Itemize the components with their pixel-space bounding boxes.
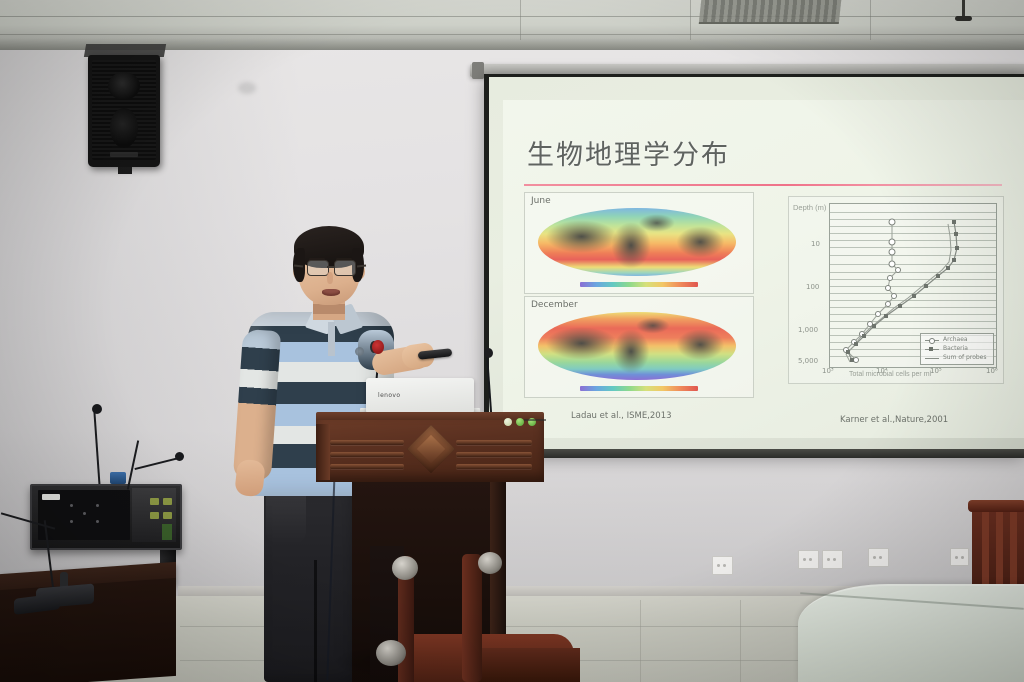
chair-foreground-rail [462, 554, 482, 682]
floor-tile-seam [740, 600, 741, 682]
map-label-june: June [531, 196, 551, 206]
lectern-slat [330, 464, 404, 469]
ceiling-tile-seam [520, 0, 521, 40]
lectern-slat [330, 440, 404, 445]
chart-y-axis-label: Depth (m) [793, 203, 826, 212]
chart-x-axis-label: Total microbial cells per ml [849, 371, 931, 378]
presenter-nose [327, 272, 333, 284]
speaker-mount [118, 167, 132, 174]
presenter-trousers-seam [314, 560, 317, 682]
av-rack-jack[interactable] [163, 512, 172, 519]
av-rack-screw [70, 520, 73, 523]
speaker-tweeter [108, 72, 140, 100]
presenter-neck-shadow [313, 304, 345, 314]
presenter-shirt-placket [328, 322, 335, 356]
lectern-slat [456, 464, 532, 469]
gooseneck-microphone-head [175, 452, 184, 461]
legend-marker-bacteria [929, 347, 933, 351]
eyeglasses-lens [307, 260, 329, 276]
lectern-slat [456, 440, 532, 445]
ceiling-tile-seam [870, 0, 871, 40]
colorbar-december [580, 386, 698, 391]
legend-label-sum-of-probes: Sum of probes [943, 354, 987, 361]
chart-x-tick: 10³ [822, 367, 834, 375]
laptop-brand-label: lenovo [378, 392, 400, 399]
chair-foreground-seat-shadow [470, 648, 580, 682]
chart-y-tick: 5,000 [798, 357, 818, 365]
chair-right-crest-rail [968, 500, 1024, 512]
eyeglasses-bridge [327, 266, 334, 268]
speaker-woofer [110, 108, 138, 148]
legend-label-bacteria: Bacteria [943, 345, 968, 352]
wall-outlet [822, 550, 843, 569]
legend-label-archaea: Archaea [943, 336, 968, 343]
wall-outlet [950, 548, 969, 566]
lectern-indicator-light-1[interactable] [504, 418, 512, 426]
av-rack-label [42, 494, 60, 500]
speaker-brand-plate [110, 152, 138, 157]
lectern-control-strip [524, 419, 546, 421]
ceiling-hook [955, 16, 972, 21]
map-label-december: December [531, 300, 578, 310]
white-conference-table [798, 584, 1024, 682]
chart-x-tick: 10⁵ [930, 367, 942, 375]
wall-outlet [798, 550, 819, 569]
eyeglasses-lens [334, 260, 356, 276]
lectern-slat [330, 452, 404, 457]
citation-right: Karner et al.,Nature,2001 [840, 415, 948, 425]
presenter-shirt-logo [355, 347, 364, 356]
slide-title-underline [524, 184, 1002, 186]
citation-left: Ladau et al., ISME,2013 [571, 411, 672, 421]
floor-tile-seam [640, 600, 641, 682]
chair-foreground-knob [376, 640, 406, 666]
wall-mark [238, 82, 256, 94]
gooseneck-microphone-head [92, 404, 102, 414]
chair-foreground-knob [392, 556, 418, 580]
chart-y-tick: 1,000 [798, 326, 818, 334]
legend-marker-archaea [929, 338, 935, 344]
lectern-side-panel [316, 424, 330, 480]
globe-december [538, 312, 736, 380]
chair-foreground-knob [478, 552, 502, 574]
chart-y-tick: 10 [811, 240, 820, 248]
podium-microphone-head [484, 348, 493, 358]
colorbar-june [580, 282, 698, 287]
projection-screen-roller-cap [472, 62, 484, 79]
chart-y-tick: 100 [806, 283, 819, 291]
av-rack-indicator [162, 524, 172, 540]
av-rack-screw [70, 504, 73, 507]
lecture-hall-photo: 生物地理学分布 June December Depth (m) [0, 0, 1024, 682]
projection-screen-weight-bar [484, 449, 1024, 458]
av-rack-screw [96, 520, 99, 523]
wall-outlet [868, 548, 889, 567]
chart-x-tick: 10⁶ [986, 367, 998, 375]
podium-microphone-windscreen [372, 340, 384, 354]
lectern-slat [456, 452, 532, 457]
av-rack-jack[interactable] [150, 498, 159, 505]
av-rack-screw [96, 504, 99, 507]
av-rack-jack[interactable] [163, 498, 172, 505]
lectern-indicator-light-2[interactable] [516, 418, 524, 426]
globe-june [538, 208, 736, 276]
av-rack-jack[interactable] [150, 512, 159, 519]
presenter-mouth [322, 289, 340, 296]
blue-xlr-connector [110, 472, 126, 484]
chart-legend: Archaea Bacteria Sum of probes [920, 333, 994, 365]
ceiling-tile-seam [690, 0, 691, 40]
slide-title: 生物地理学分布 [527, 133, 857, 173]
wall-outlet [712, 556, 733, 575]
ceiling-air-vent [699, 0, 842, 24]
av-rack-screw [83, 512, 86, 515]
